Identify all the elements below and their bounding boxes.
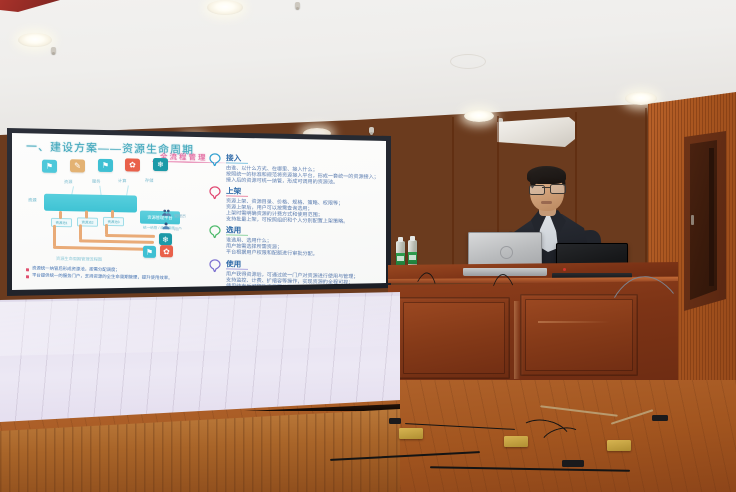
thinkpad-logo-dot — [563, 268, 566, 271]
diagram-rtile-1: ❄ — [159, 233, 172, 245]
diagram-bar-label: 资源 — [28, 197, 37, 203]
pin-icon — [209, 259, 221, 272]
diagram-pipe — [105, 234, 155, 238]
tile-label-2: 计算 — [118, 178, 126, 184]
admin-group-icon — [162, 209, 171, 217]
diagram-caption: 资源生命周期管理流程图 — [56, 256, 102, 263]
diagram-resource-bar — [44, 194, 137, 213]
diagram-connector — [126, 185, 128, 195]
pin-icon — [209, 225, 221, 238]
tile-glyph: ⚑ — [146, 247, 153, 256]
diagram-pipe — [53, 246, 153, 251]
tile-glyph: ✿ — [163, 247, 170, 256]
tile-glyph: ⚑ — [102, 161, 109, 170]
user-group-label: 用户 — [174, 226, 182, 232]
door-handle[interactable] — [691, 215, 694, 225]
projection-screen: 一、建设方案——资源生命周期 全流程管理 ⚑ ✎ ⚑ ✿ ❄ 资源 服务 计算 … — [12, 133, 386, 290]
diagram-pipe — [85, 211, 88, 219]
diagram-rtile-2: ⚑ — [143, 246, 156, 258]
tile-label-0: 资源 — [64, 179, 72, 185]
diagram-note-1: 平台提供统一的服务门户，支持资源的全生命周期管理，提升使用效率。 — [32, 272, 173, 281]
door-opening — [709, 148, 714, 286]
diagram-tile-2: ✎ — [70, 159, 85, 172]
note-bullet-dot — [26, 268, 29, 271]
downlight — [18, 33, 52, 47]
stage-reflection — [0, 296, 400, 356]
glasses-icon — [528, 184, 566, 193]
wall-seam — [452, 117, 454, 265]
downlight — [207, 0, 243, 15]
diagram-pipe — [79, 224, 82, 240]
diagram-pipe — [59, 211, 62, 219]
glasses-lens-right — [550, 184, 566, 194]
sprinkler-head — [295, 2, 300, 9]
water-bottle[interactable] — [408, 240, 417, 268]
diagram-rtile-3: ✿ — [160, 245, 173, 257]
cable-connector-box — [562, 460, 584, 467]
note-bullet-dot — [26, 275, 29, 278]
bullet-line: 支持批量上架，可按照组织和个人分别配置上架策略。 — [226, 215, 348, 225]
tile-glyph: ❄ — [157, 160, 164, 169]
podium-highlight — [538, 321, 610, 323]
tile-label-3: 存储 — [145, 178, 153, 184]
diagram-pipe — [53, 225, 56, 247]
diagram-tile-3: ⚑ — [98, 159, 113, 172]
bottle-label — [396, 253, 405, 265]
cable-connector-box — [389, 418, 401, 424]
sprinkler-head — [51, 47, 56, 54]
water-bottle[interactable] — [396, 241, 405, 269]
bullet-line: 平台根据用户权限和配额进行审批分配。 — [226, 248, 318, 257]
ceiling-vent-ring — [450, 54, 486, 69]
diagram-tile-5: ❄ — [153, 158, 168, 171]
bottle-label — [408, 252, 417, 264]
diagram-pipe — [111, 210, 114, 218]
pin-icon — [209, 153, 221, 166]
diagram-pipe — [79, 239, 154, 244]
bottle-cap — [398, 237, 403, 242]
presentation-slide: 一、建设方案——资源生命周期 全流程管理 ⚑ ✎ ⚑ ✿ ❄ 资源 服务 计算 … — [12, 133, 386, 290]
conference-room-photo: 一、建设方案——资源生命周期 全流程管理 ⚑ ✎ ⚑ ✿ ❄ 资源 服务 计算 … — [0, 0, 736, 492]
wall-seam — [645, 108, 647, 268]
dell-logo — [500, 246, 513, 259]
tile-glyph: ❄ — [162, 235, 169, 244]
bullet-line: 接入后的资源可统一纳管，形成可调用的资源池。 — [226, 176, 338, 185]
speaker-mouth — [541, 201, 552, 204]
user-group-icon — [162, 222, 171, 230]
pin-icon — [209, 186, 221, 199]
tile-glyph: ✿ — [129, 160, 136, 169]
ceiling-red-trim — [0, 0, 60, 12]
glasses-bridge — [542, 187, 550, 188]
tile-glyph: ✎ — [74, 161, 81, 170]
bottle-cap — [410, 236, 415, 241]
diagram-tile-1: ⚑ — [42, 160, 57, 173]
tile-glyph: ⚑ — [46, 162, 53, 171]
admin-group-label: 管理员 — [174, 213, 186, 219]
diagram-tile-4: ✿ — [125, 158, 140, 171]
tile-label-1: 服务 — [92, 179, 100, 185]
